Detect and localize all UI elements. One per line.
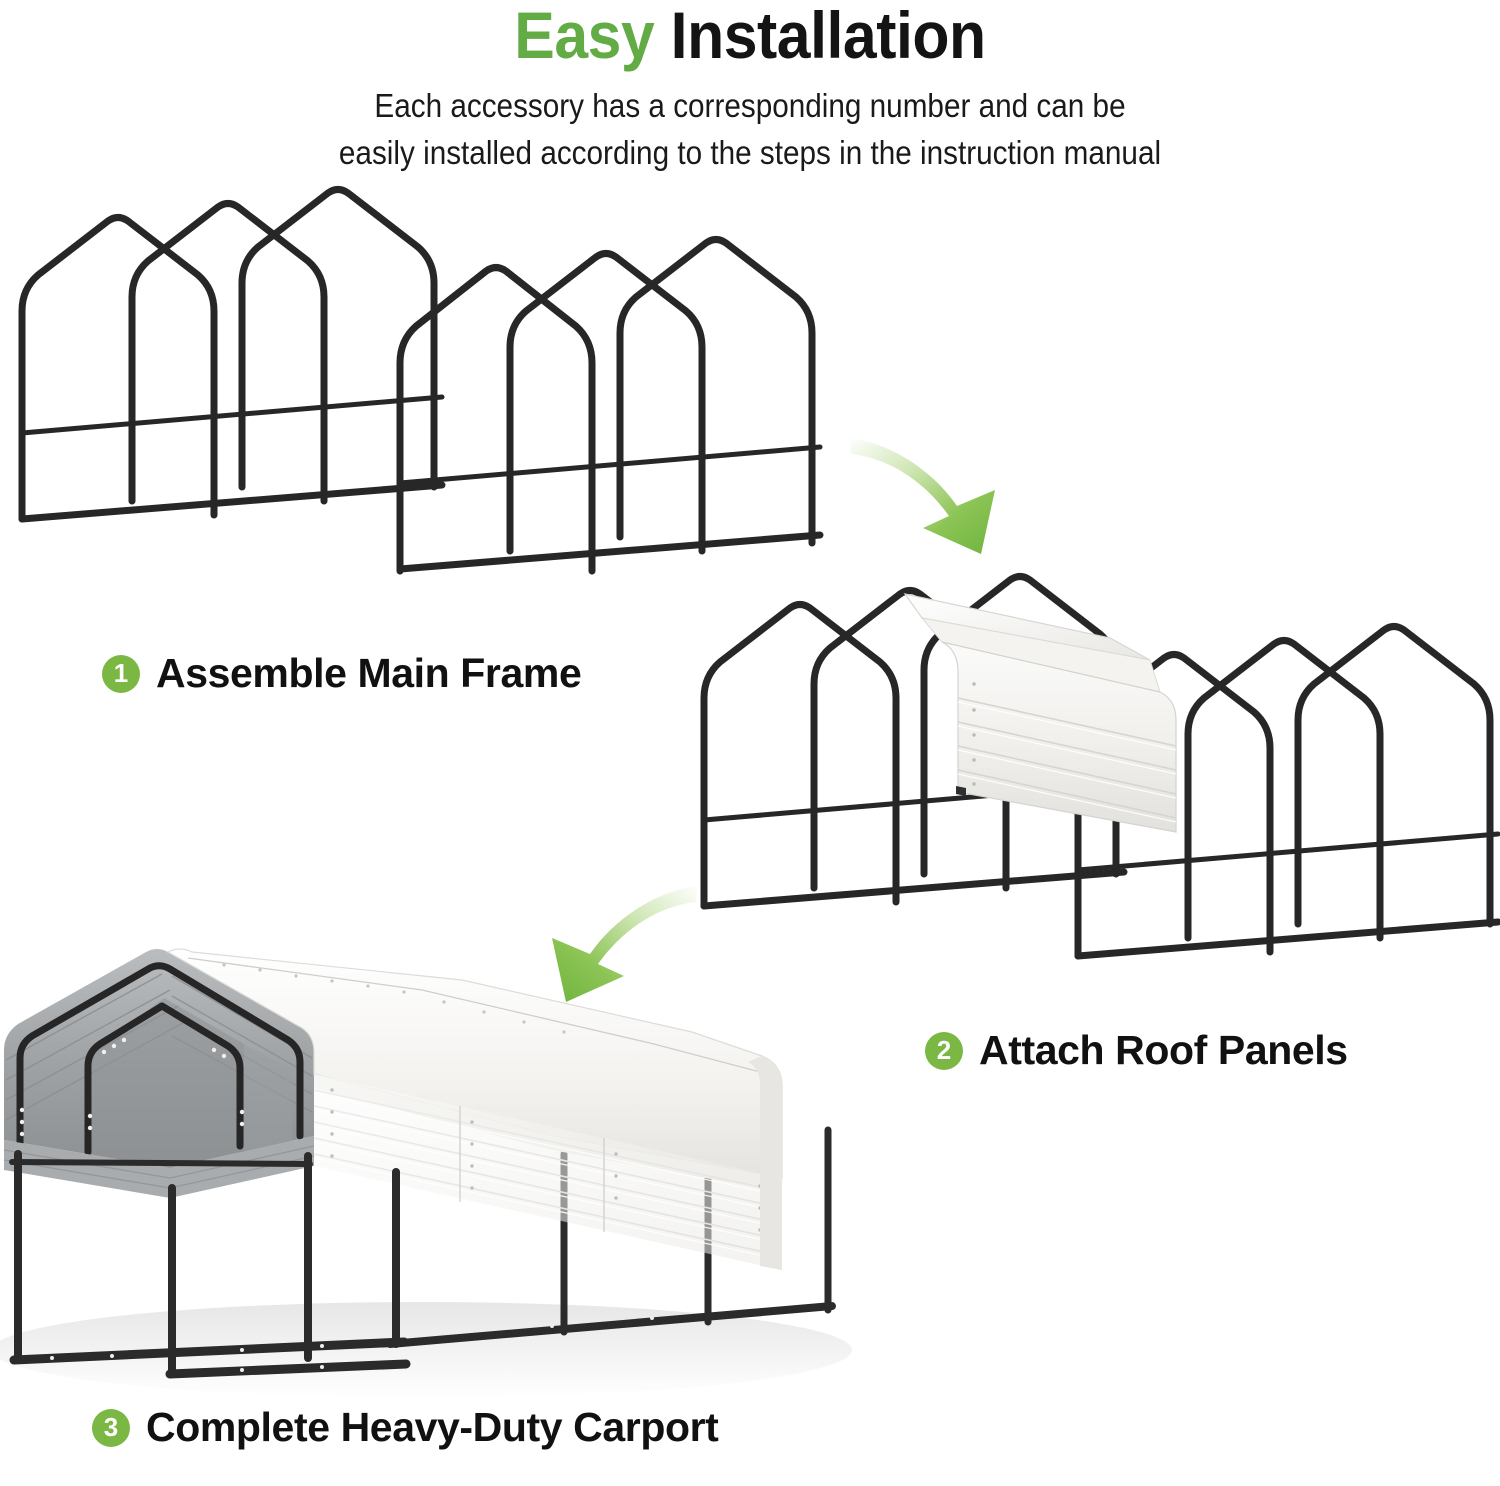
roof-panel-single — [905, 594, 1176, 832]
title-accent-word: Easy — [514, 0, 654, 72]
arrow-step2-to-step3 — [462, 880, 702, 1010]
step-1-caption: 1 Assemble Main Frame — [102, 650, 581, 697]
step-1-label: Assemble Main Frame — [156, 650, 581, 697]
completed-carport-illustration — [0, 940, 892, 1410]
step-3-label: Complete Heavy-Duty Carport — [146, 1404, 718, 1451]
step-2-badge: 2 — [925, 1032, 963, 1070]
step-3-badge: 3 — [92, 1409, 130, 1447]
subtitle-line-1: Each accessory has a corresponding numbe… — [75, 83, 1425, 130]
page-subtitle: Each accessory has a corresponding numbe… — [75, 69, 1425, 177]
page-title: Easy Installation — [60, 0, 1440, 69]
subtitle-line-2: easily installed according to the steps … — [75, 130, 1425, 177]
header: Easy Installation Each accessory has a c… — [0, 0, 1500, 177]
step-2-caption: 2 Attach Roof Panels — [925, 1027, 1348, 1074]
step-1-badge: 1 — [102, 655, 140, 693]
step-2-label: Attach Roof Panels — [979, 1027, 1348, 1074]
arrow-step1-to-step2 — [845, 432, 1070, 560]
step-3-caption: 3 Complete Heavy-Duty Carport — [92, 1404, 718, 1451]
title-rest: Installation — [654, 0, 985, 72]
